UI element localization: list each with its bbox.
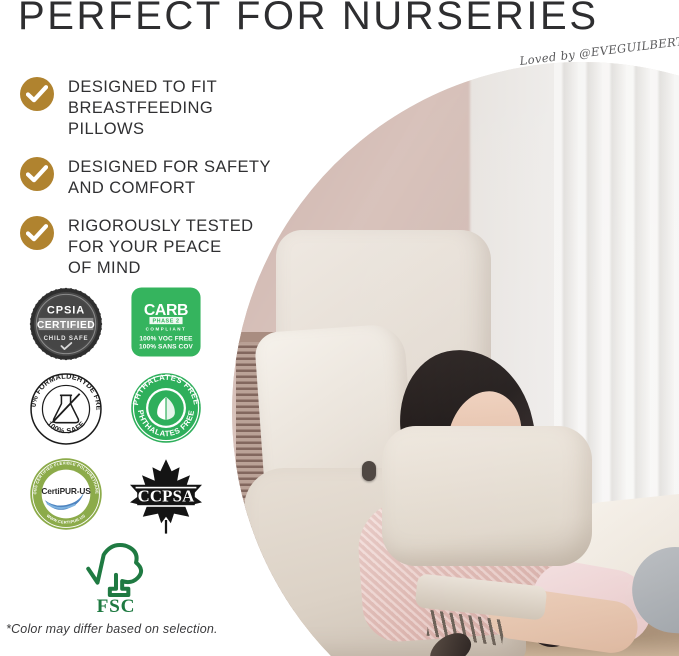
certipur-label: CertiPUR-US	[41, 486, 91, 496]
badge-cell: PHTHALATES FREE PHTHALATES FREE	[116, 371, 216, 445]
carb-line5: 100% SANS COV	[139, 344, 194, 351]
badge-row: 100% FORMALDEHYDE FREE 100% SAFE	[16, 371, 216, 456]
list-item-label: RIGOROUSLY TESTED FOR YOUR PEACE OF MIND	[68, 215, 254, 279]
recliner-knob-icon	[362, 461, 376, 481]
carb-line4: 100% VOC FREE	[139, 336, 193, 343]
certipur-us-badge: CUSHIONS CERTIFIED FLEXIBLE POLYURETHANE…	[28, 456, 104, 532]
feature-list: DESIGNED TO FIT BREASTFEEDING PILLOWS DE…	[20, 76, 290, 295]
color-disclaimer: *Color may differ based on selection.	[6, 622, 218, 636]
product-feature-panel: PERFECT FOR NURSERIES Loved by @EVEGUILB…	[0, 0, 679, 656]
formaldehyde-arc-top: 100% FORMALDEHYDE FREE	[28, 371, 103, 411]
check-icon	[20, 77, 54, 111]
check-icon	[20, 216, 54, 250]
cpsia-line1: CPSIA	[47, 304, 85, 316]
carb-line3: COMPLIANT	[146, 327, 187, 332]
slash-icon	[52, 394, 79, 423]
carb-phase-2-badge: CARB PHASE 2 COMPLIANT 100% VOC FREE 100…	[130, 286, 202, 358]
ccpsa-label: CCPSA	[138, 487, 195, 506]
badge-cell: CARB PHASE 2 COMPLIANT 100% VOC FREE 100…	[116, 286, 216, 358]
badge-cell: CUSHIONS CERTIFIED FLEXIBLE POLYURETHANE…	[16, 456, 116, 532]
check-icon	[20, 157, 54, 191]
certification-badges: CPSIA CERTIFIED CHILD SAFE CARB PHASE 2 …	[16, 286, 216, 619]
badge-row: CPSIA CERTIFIED CHILD SAFE CARB PHASE 2 …	[16, 286, 216, 371]
badge-cell: CPSIA CERTIFIED CHILD SAFE	[16, 286, 116, 362]
cpsia-certified-badge: CPSIA CERTIFIED CHILD SAFE	[28, 286, 104, 362]
list-item-label: DESIGNED TO FIT BREASTFEEDING PILLOWS	[68, 76, 290, 140]
list-item: RIGOROUSLY TESTED FOR YOUR PEACE OF MIND	[20, 215, 290, 279]
phthalates-free-badge: PHTHALATES FREE PHTHALATES FREE	[129, 371, 203, 445]
carb-line2: PHASE 2	[152, 319, 179, 325]
cpsia-line2: CERTIFIED	[37, 320, 95, 331]
photo-scene	[232, 62, 679, 656]
nursery-lifestyle-photo	[232, 62, 679, 656]
chair-armrest	[382, 426, 592, 566]
fsc-label: FSC	[97, 596, 136, 615]
ccpsa-badge: CCPSA	[126, 456, 206, 536]
tree-check-icon	[88, 545, 141, 595]
badge-row: FSC	[16, 541, 216, 619]
badge-row: CUSHIONS CERTIFIED FLEXIBLE POLYURETHANE…	[16, 456, 216, 541]
fsc-badge: FSC	[77, 541, 155, 615]
cpsia-line3: CHILD SAFE	[44, 335, 89, 342]
page-title: PERFECT FOR NURSERIES	[18, 0, 599, 39]
list-item: DESIGNED FOR SAFETY AND COMFORT	[20, 156, 290, 199]
badge-cell: CCPSA	[116, 456, 216, 536]
carb-line1: CARB	[144, 302, 188, 319]
formaldehyde-free-badge: 100% FORMALDEHYDE FREE 100% SAFE	[28, 371, 104, 447]
list-item: DESIGNED TO FIT BREASTFEEDING PILLOWS	[20, 76, 290, 140]
formaldehyde-arc-bottom: 100% SAFE	[45, 419, 87, 435]
list-item-label: DESIGNED FOR SAFETY AND COMFORT	[68, 156, 271, 199]
badge-cell: 100% FORMALDEHYDE FREE 100% SAFE	[16, 371, 116, 447]
